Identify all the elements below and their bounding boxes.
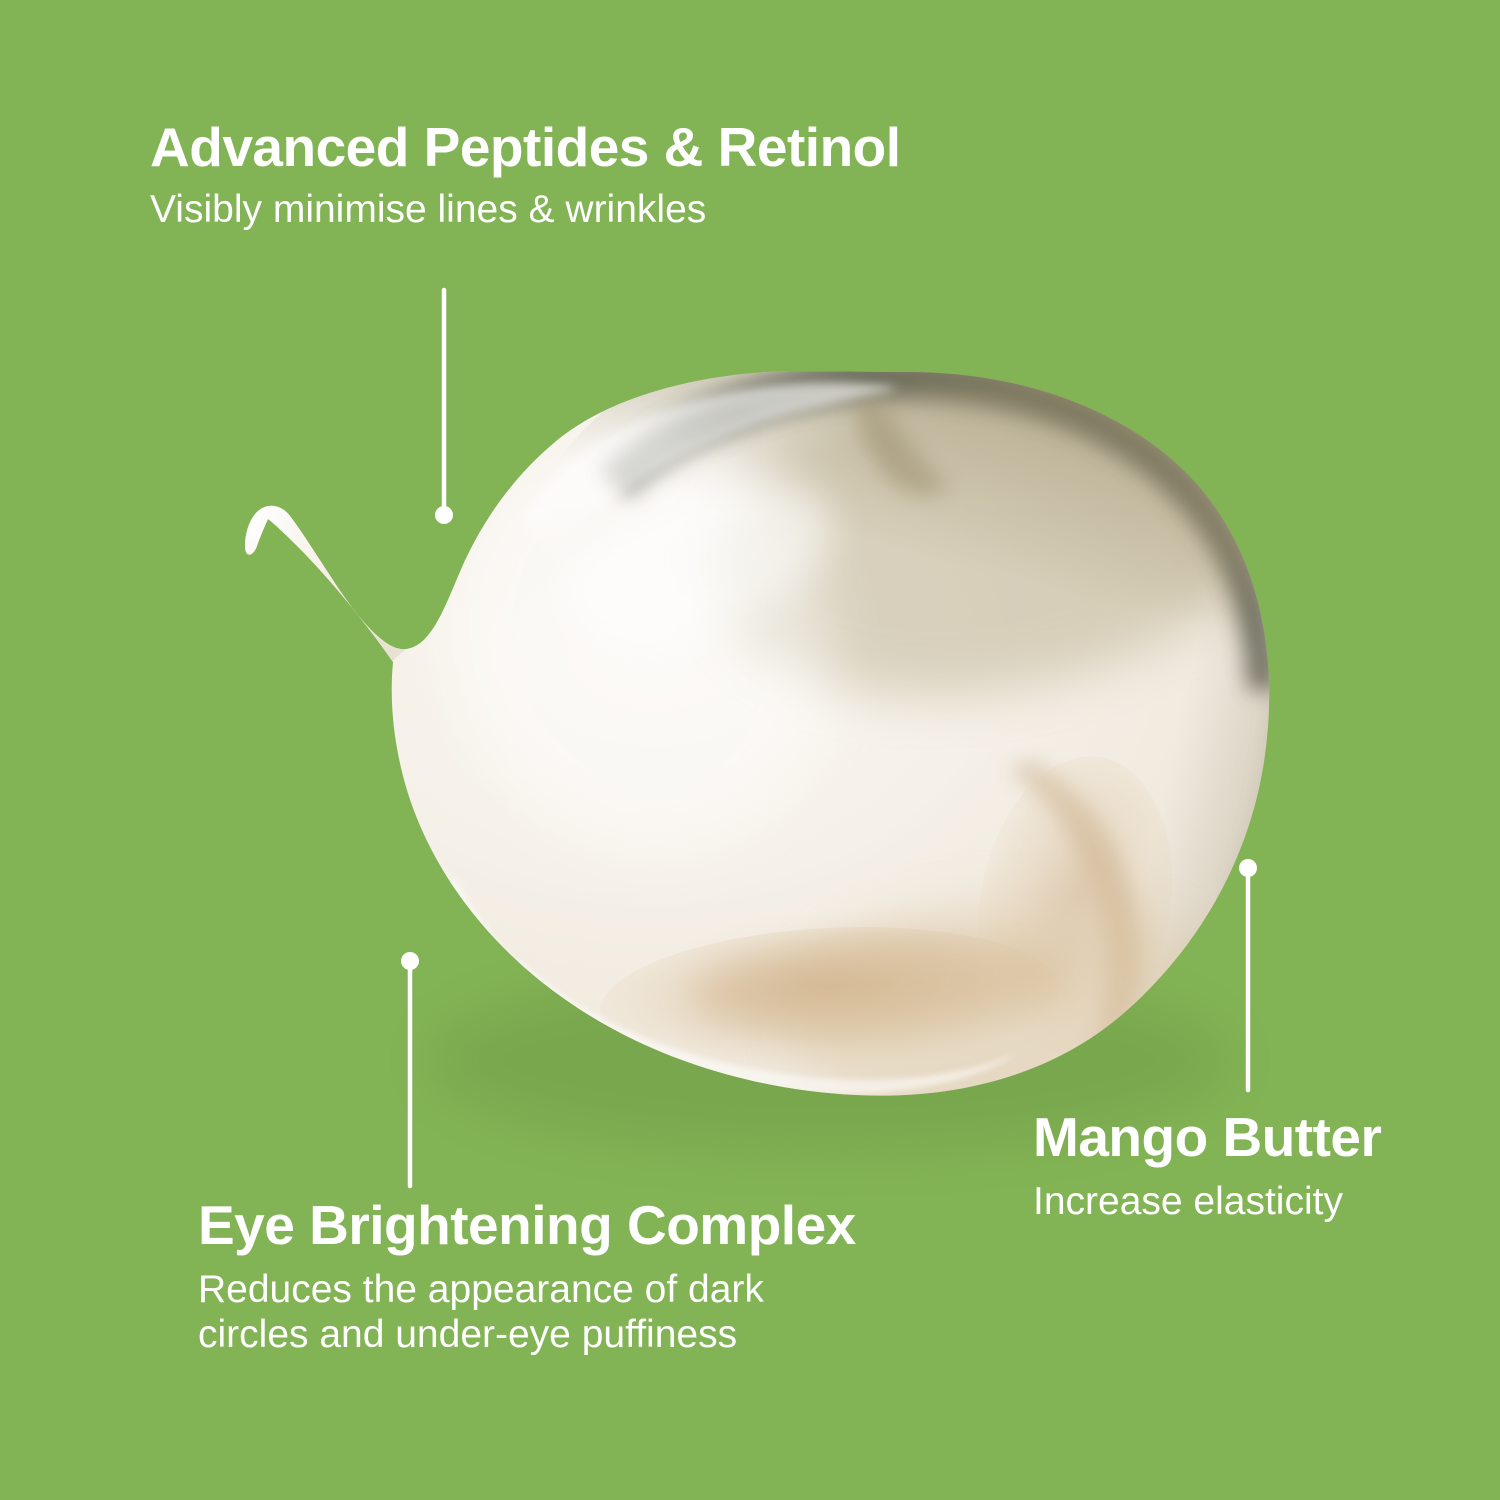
callout-mango-butter-subtitle: Increase elasticity <box>1033 1180 1381 1224</box>
callout-peptides-subtitle: Visibly minimise lines & wrinkles <box>150 188 901 232</box>
callout-peptides-title: Advanced Peptides & Retinol <box>150 118 901 176</box>
callout-mango-butter: Mango Butter Increase elasticity <box>1033 1108 1381 1225</box>
callout-eye-brightening-title: Eye Brightening Complex <box>198 1196 856 1254</box>
callout-eye-brightening-subtitle-line-2: circles and under-eye puffiness <box>198 1313 856 1357</box>
callout-eye-brightening: Eye Brightening Complex Reduces the appe… <box>198 1196 856 1357</box>
cream-peak-tail <box>245 506 406 662</box>
callout-eye-brightening-subtitle-line-1: Reduces the appearance of dark <box>198 1268 856 1312</box>
callout-mango-butter-title: Mango Butter <box>1033 1108 1381 1166</box>
product-feature-graphic: Advanced Peptides & Retinol Visibly mini… <box>0 0 1500 1500</box>
callout-peptides: Advanced Peptides & Retinol Visibly mini… <box>150 118 901 233</box>
callout-eye-brightening-subtitle: Reduces the appearance of dark circles a… <box>198 1268 856 1357</box>
